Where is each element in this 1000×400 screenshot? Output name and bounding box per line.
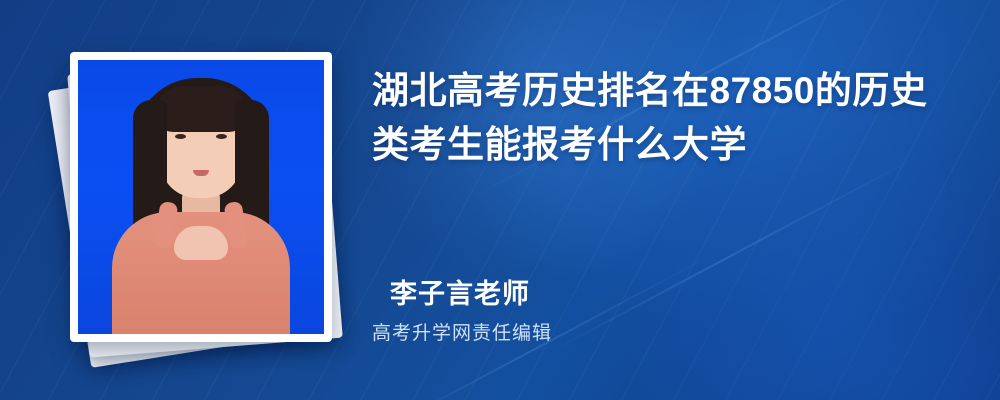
headline-line-2: 类考生能报考什么大学 bbox=[372, 118, 972, 172]
photo-card-front bbox=[70, 52, 332, 342]
headline-block: 湖北高考历史排名在87850的历史 类考生能报考什么大学 bbox=[372, 64, 972, 172]
headline-line-1: 湖北高考历史排名在87850的历史 bbox=[372, 64, 972, 118]
background-streak bbox=[545, 147, 934, 355]
author-portrait-image bbox=[78, 60, 324, 334]
portrait-eye-left bbox=[175, 134, 186, 139]
photo-card-stack bbox=[52, 40, 362, 370]
article-cover-banner: 湖北高考历史排名在87850的历史 类考生能报考什么大学 李子言老师 高考升学网… bbox=[0, 0, 1000, 400]
portrait-chest bbox=[174, 226, 228, 260]
author-name: 李子言老师 bbox=[390, 272, 530, 311]
portrait-eye-right bbox=[216, 134, 227, 139]
portrait-fringe bbox=[155, 86, 247, 132]
author-role: 高考升学网责任编辑 bbox=[372, 318, 552, 345]
